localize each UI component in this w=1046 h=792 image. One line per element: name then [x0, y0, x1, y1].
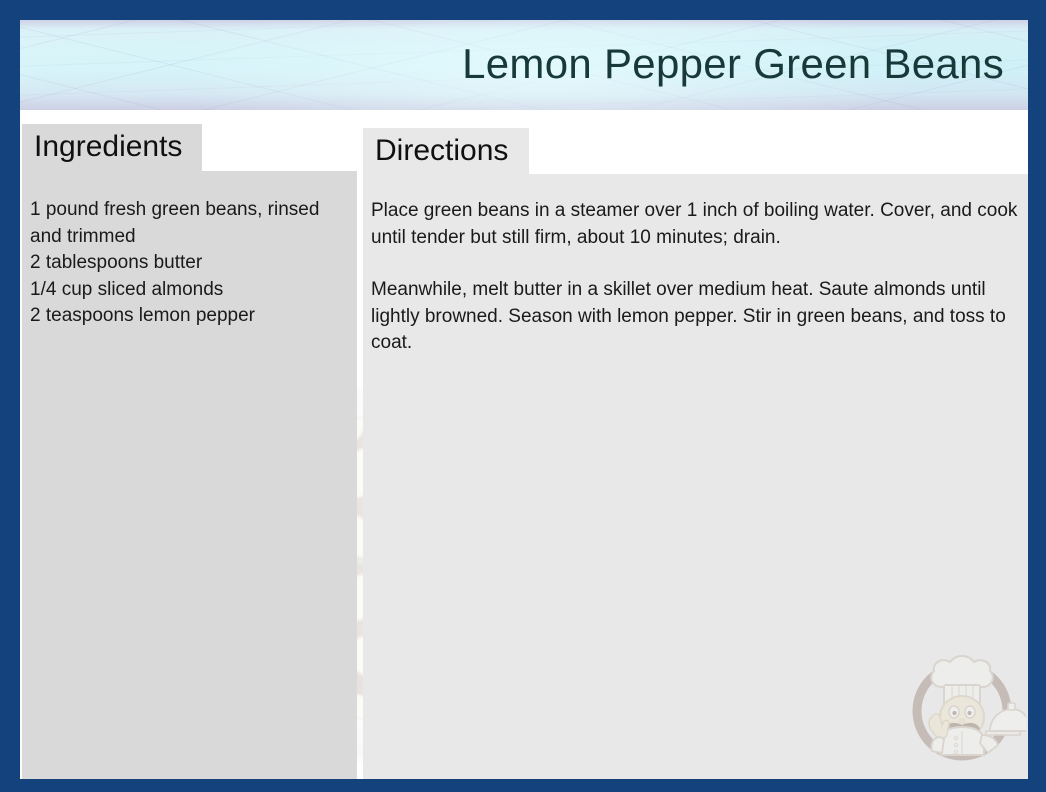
list-item: 2 teaspoons lemon pepper: [30, 303, 350, 330]
direction-step: Place green beans in a steamer over 1 in…: [371, 198, 1023, 251]
ingredients-list: 1 pound fresh green beans, rinsed and tr…: [30, 197, 350, 330]
recipe-page: Lemon Pepper Green Beans: [20, 20, 1028, 779]
direction-step: Meanwhile, melt butter in a skillet over…: [371, 277, 1023, 357]
page-title: Lemon Pepper Green Beans: [462, 34, 1004, 94]
list-item: 2 tablespoons butter: [30, 250, 350, 277]
ingredients-panel: Ingredients 1 pound fresh green beans, r…: [22, 124, 357, 779]
recipe-card: Lemon Pepper Green Beans: [0, 0, 1046, 792]
ingredients-body: 1 pound fresh green beans, rinsed and tr…: [22, 171, 357, 779]
directions-body: Place green beans in a steamer over 1 in…: [363, 174, 1028, 779]
directions-tab-header: Directions: [363, 128, 529, 175]
ingredients-heading: Ingredients: [34, 126, 182, 168]
directions-panel: Directions Place green beans in a steame…: [363, 128, 1028, 779]
list-item: 1 pound fresh green beans, rinsed and tr…: [30, 197, 350, 250]
directions-heading: Directions: [375, 130, 508, 172]
directions-steps: Place green beans in a steamer over 1 in…: [371, 198, 1023, 383]
title-banner: Lemon Pepper Green Beans: [20, 20, 1028, 110]
ingredients-tab-header: Ingredients: [22, 124, 202, 171]
list-item: 1/4 cup sliced almonds: [30, 277, 350, 304]
